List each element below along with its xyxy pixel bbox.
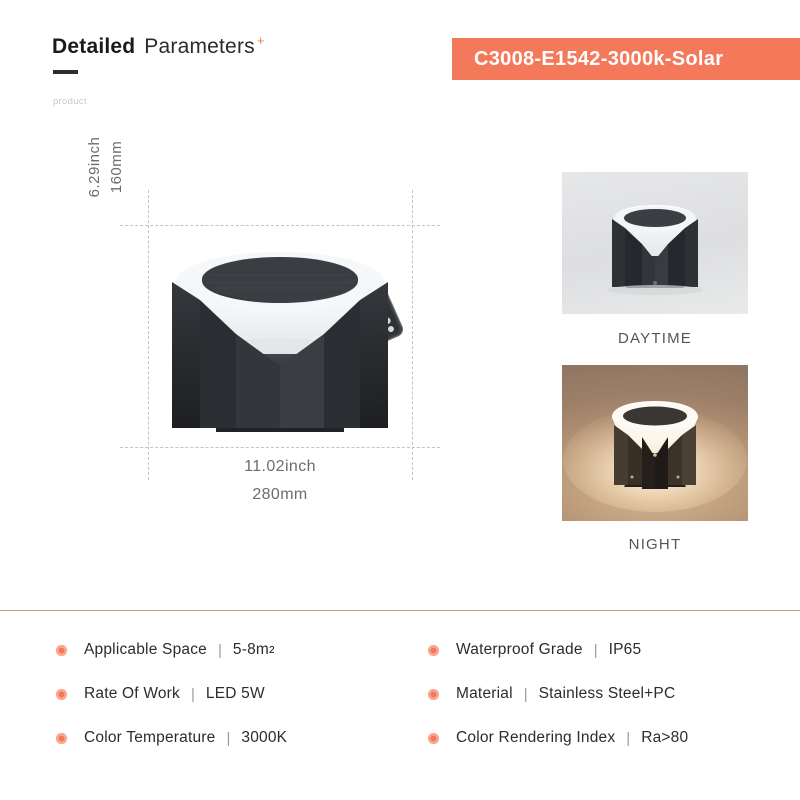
night-caption: NIGHT xyxy=(562,536,748,553)
height-inch-label: 6.29inch xyxy=(86,82,103,252)
plus-icon: + xyxy=(257,33,265,48)
spec-value: IP65 xyxy=(609,641,642,659)
bullet-icon xyxy=(56,733,67,744)
title-underline xyxy=(53,70,78,74)
spec-row: Applicable Space | 5-8m2 xyxy=(56,628,287,672)
spec-value: LED 5W xyxy=(206,685,265,703)
width-mm-label: 280mm xyxy=(148,486,412,504)
spec-separator: | xyxy=(626,730,630,747)
product-illustration xyxy=(158,242,402,437)
spec-label: Color Temperature xyxy=(84,729,215,747)
spec-separator: | xyxy=(191,686,195,703)
spec-row: Material | Stainless Steel+PC xyxy=(428,672,688,716)
spec-label: Material xyxy=(456,685,513,703)
product-parameters-page: DetailedParameters+ product C3008-E1542-… xyxy=(0,0,800,800)
page-subtitle: product xyxy=(53,96,87,107)
dimension-line-top xyxy=(120,225,440,226)
model-code-banner: C3008-E1542-3000k-Solar xyxy=(452,38,800,80)
spec-label: Color Rendering Index xyxy=(456,729,615,747)
spec-row: Color Temperature | 3000K xyxy=(56,716,287,760)
spec-column-right: Waterproof Grade | IP65 Material | Stain… xyxy=(428,628,688,760)
spec-value: 3000K xyxy=(241,729,287,747)
spec-row: Waterproof Grade | IP65 xyxy=(428,628,688,672)
bullet-icon xyxy=(56,689,67,700)
width-inch-label: 11.02inch xyxy=(148,458,412,476)
spec-separator: | xyxy=(594,642,598,659)
product-night-photo xyxy=(562,365,748,521)
dimension-diagram: 6.29inch 160mm 11.02inch 280mm xyxy=(0,130,470,520)
spec-label: Waterproof Grade xyxy=(456,641,583,659)
dimension-line-left xyxy=(148,190,149,480)
bullet-icon xyxy=(428,689,439,700)
dimension-line-bottom xyxy=(120,447,440,448)
spec-separator: | xyxy=(226,730,230,747)
bullet-icon xyxy=(56,645,67,656)
spec-value: 5-8m xyxy=(233,641,269,659)
daytime-caption: DAYTIME xyxy=(562,330,748,347)
bullet-icon xyxy=(428,645,439,656)
spec-value-superscript: 2 xyxy=(269,645,275,656)
spec-label: Applicable Space xyxy=(84,641,207,659)
dimension-line-right xyxy=(412,190,413,480)
spec-separator: | xyxy=(524,686,528,703)
page-title: DetailedParameters+ xyxy=(52,33,265,59)
spec-separator: | xyxy=(218,642,222,659)
bullet-icon xyxy=(428,733,439,744)
page-title-normal: Parameters xyxy=(144,35,255,58)
spec-label: Rate Of Work xyxy=(84,685,180,703)
spec-value: Stainless Steel+PC xyxy=(539,685,676,703)
product-daytime-photo xyxy=(562,172,748,314)
height-mm-label: 160mm xyxy=(108,82,125,252)
page-title-bold: Detailed xyxy=(52,35,135,58)
spec-value: Ra>80 xyxy=(641,729,688,747)
spec-row: Rate Of Work | LED 5W xyxy=(56,672,287,716)
section-divider xyxy=(0,610,800,611)
spec-row: Color Rendering Index | Ra>80 xyxy=(428,716,688,760)
model-code-text: C3008-E1542-3000k-Solar xyxy=(474,48,723,71)
spec-column-left: Applicable Space | 5-8m2 Rate Of Work | … xyxy=(56,628,287,760)
